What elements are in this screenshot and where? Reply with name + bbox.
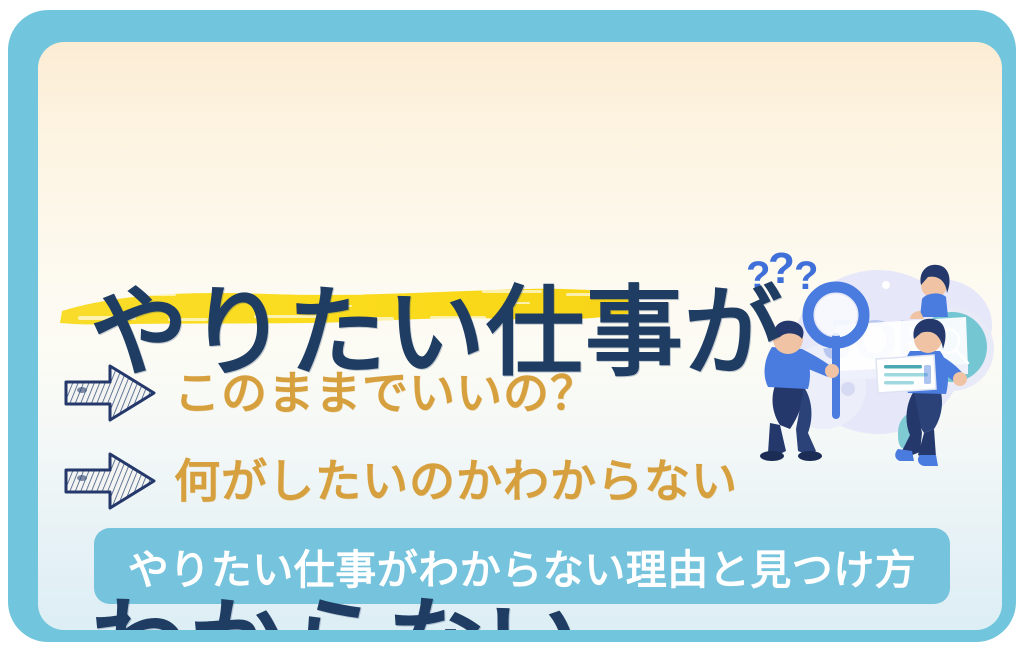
bullet-item-1: 何がしたいのかわからない bbox=[60, 448, 738, 514]
outer-frame-border: やりたい仕事が わからない… bbox=[8, 10, 1016, 642]
banner-image: やりたい仕事が わからない… bbox=[0, 0, 1024, 652]
headline-line-2: わからない… bbox=[90, 592, 920, 630]
inner-frame-background: やりたい仕事が わからない… bbox=[38, 42, 1002, 630]
bottom-badge-label: やりたい仕事がわからない理由と見つけ方 bbox=[128, 536, 917, 596]
bullet-label-1: 何がしたいのかわからない bbox=[174, 455, 738, 507]
arrow-right-sketch-icon bbox=[60, 448, 160, 514]
headline-line-1: やりたい仕事が bbox=[90, 280, 920, 384]
